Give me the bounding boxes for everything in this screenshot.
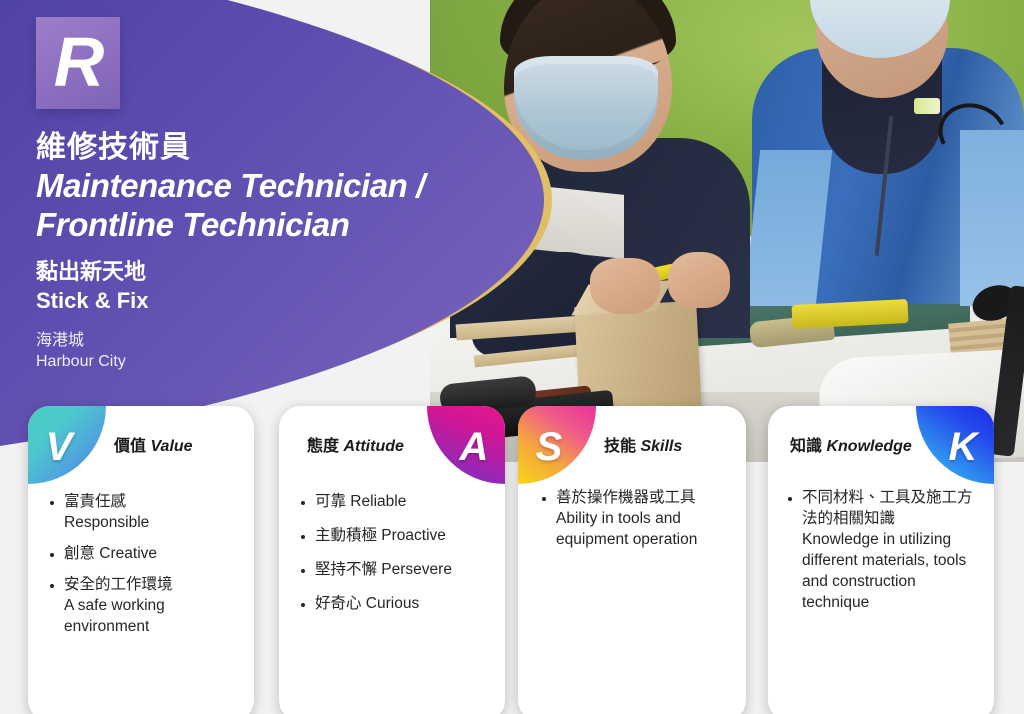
card-attitude-title-en: Attitude [343, 438, 403, 455]
badge-v-icon: V [28, 406, 106, 484]
photo-hand [590, 258, 660, 314]
role-letter-badge-text: R [36, 27, 120, 97]
role-letter-badge: R [36, 17, 120, 109]
list-item: 安全的工作環境 A safe working environment [48, 575, 240, 638]
title-block: 維修技術員 Maintenance Technician / Frontline… [36, 130, 506, 372]
bullet-zh: 可靠 Reliable [315, 492, 491, 513]
card-skills-title-zh: 技能 [604, 438, 636, 455]
bullet-zh: 善於操作機器或工具 [556, 488, 736, 509]
list-item: 富責任感 Responsible [48, 492, 240, 534]
job-title-zh: 維修技術員 [36, 130, 506, 165]
badge-s-letter: S [518, 408, 588, 486]
poster-root: R 維修技術員 Maintenance Technician / Frontli… [0, 0, 1024, 714]
card-value-title-en: Value [150, 438, 192, 455]
list-item: 創意 Creative [48, 544, 240, 565]
card-skills-bullets: 善於操作機器或工具 Ability in tools and equipment… [540, 488, 736, 561]
card-attitude-title-zh: 態度 [307, 438, 339, 455]
bullet-zh: 主動積極 Proactive [315, 526, 491, 547]
list-item: 善於操作機器或工具 Ability in tools and equipment… [540, 488, 736, 551]
location-zh: 海港城 [36, 330, 506, 352]
list-item: 主動積極 Proactive [299, 526, 491, 547]
card-knowledge[interactable]: K 知識 Knowledge 不同材料、工具及施工方法的相關知識 Knowled… [768, 406, 994, 714]
list-item: 不同材料、工具及施工方法的相關知識 Knowledge in utilizing… [786, 488, 982, 614]
card-value-bullets: 富責任感 Responsible 創意 Creative 安全的工作環境 A s… [48, 492, 240, 648]
badge-k-icon: K [916, 406, 994, 484]
photo-hand [668, 252, 730, 308]
card-knowledge-title-zh: 知識 [790, 438, 822, 455]
bullet-zh: 不同材料、工具及施工方法的相關知識 [802, 488, 982, 530]
bullet-zh: 安全的工作環境 [64, 575, 240, 596]
card-value[interactable]: V 價值 Value 富責任感 Responsible 創意 Creative … [28, 406, 254, 714]
list-item: 好奇心 Curious [299, 594, 491, 615]
card-value-title: 價值 Value [114, 432, 193, 456]
card-knowledge-title-en: Knowledge [826, 438, 911, 455]
card-skills-title: 技能 Skills [604, 432, 682, 456]
bullet-en: A safe working environment [64, 596, 240, 638]
bullet-en: Ability in tools and equipment operation [556, 509, 736, 551]
card-knowledge-bullets: 不同材料、工具及施工方法的相關知識 Knowledge in utilizing… [786, 488, 982, 624]
photo-worker-right-logo [914, 98, 940, 114]
card-skills[interactable]: S 技能 Skills 善於操作機器或工具 Ability in tools a… [518, 406, 746, 714]
badge-s-icon: S [518, 406, 596, 484]
badge-a-icon: A [427, 406, 505, 484]
bullet-en: Responsible [64, 513, 240, 534]
job-title-en-line2: Frontline Technician [36, 206, 506, 244]
job-title-en-line1: Maintenance Technician / [36, 167, 506, 205]
job-title-en: Maintenance Technician / Frontline Techn… [36, 167, 506, 244]
badge-a-letter: A [435, 408, 505, 486]
bullet-zh: 堅持不懈 Persevere [315, 560, 491, 581]
program-name-zh: 黏出新天地 [36, 258, 506, 287]
badge-v-letter: V [28, 408, 98, 486]
bullet-zh: 富責任感 [64, 492, 240, 513]
badge-k-letter: K [924, 408, 994, 486]
card-value-title-zh: 價值 [114, 438, 146, 455]
card-attitude-title: 態度 Attitude [307, 432, 404, 456]
bullet-zh: 好奇心 Curious [315, 594, 491, 615]
card-knowledge-title: 知識 Knowledge [790, 432, 912, 456]
list-item: 堅持不懈 Persevere [299, 560, 491, 581]
program-name-en: Stick & Fix [36, 287, 506, 315]
list-item: 可靠 Reliable [299, 492, 491, 513]
card-skills-title-en: Skills [640, 438, 682, 455]
bullet-en: Knowledge in utilizing different materia… [802, 530, 982, 614]
bullet-zh: 創意 Creative [64, 544, 240, 565]
card-attitude-bullets: 可靠 Reliable 主動積極 Proactive 堅持不懈 Persever… [299, 492, 491, 628]
location-en: Harbour City [36, 352, 506, 373]
card-attitude[interactable]: A 態度 Attitude 可靠 Reliable 主動積極 Proactive… [279, 406, 505, 714]
